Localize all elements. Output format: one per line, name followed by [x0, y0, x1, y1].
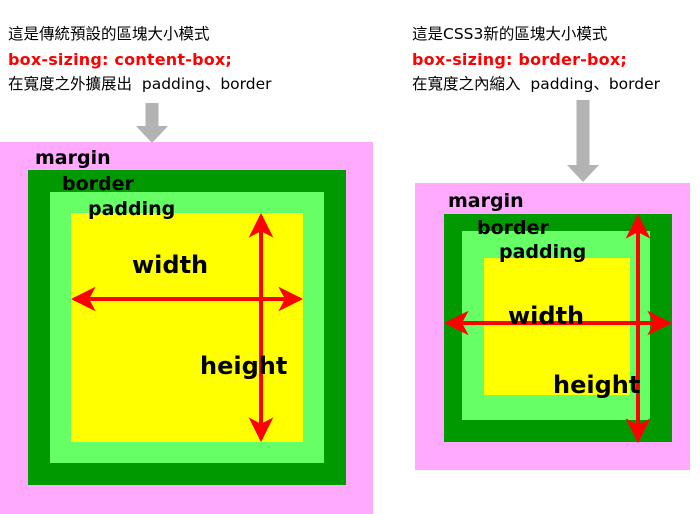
caption-left-line1: 這是傳統預設的區塊大小模式: [8, 22, 272, 47]
caption-content-box: 這是傳統預設的區塊大小模式 box-sizing: content-box; 在…: [8, 22, 272, 97]
margin-label: margin: [448, 192, 524, 211]
border-label: border: [62, 175, 134, 194]
box-model-diagram-content-box: margin border padding width height: [0, 142, 373, 514]
down-arrow-icon-left: [136, 103, 168, 143]
caption-right-code: box-sizing: border-box;: [412, 47, 660, 72]
height-label: height: [200, 354, 287, 378]
border-label: border: [477, 219, 549, 238]
box-model-diagram-border-box: margin border padding width height: [415, 183, 690, 470]
down-arrow-icon-right: [567, 100, 599, 183]
height-label: height: [553, 373, 640, 397]
caption-right-line3: 在寬度之內縮入 padding、border: [412, 72, 660, 97]
arrow-shaft: [577, 100, 590, 166]
width-label: width: [508, 304, 584, 328]
arrow-shaft: [146, 103, 159, 127]
caption-right-line1: 這是CSS3新的區塊大小模式: [412, 22, 660, 47]
dimension-arrows: [0, 142, 373, 514]
margin-label: margin: [35, 149, 111, 168]
caption-left-line3: 在寬度之外擴展出 padding、border: [8, 72, 272, 97]
arrow-head: [136, 126, 168, 143]
caption-left-code: box-sizing: content-box;: [8, 47, 272, 72]
arrow-head: [567, 165, 599, 182]
padding-label: padding: [499, 243, 586, 262]
padding-label: padding: [88, 200, 175, 219]
caption-border-box: 這是CSS3新的區塊大小模式 box-sizing: border-box; 在…: [412, 22, 660, 97]
width-label: width: [132, 253, 208, 277]
